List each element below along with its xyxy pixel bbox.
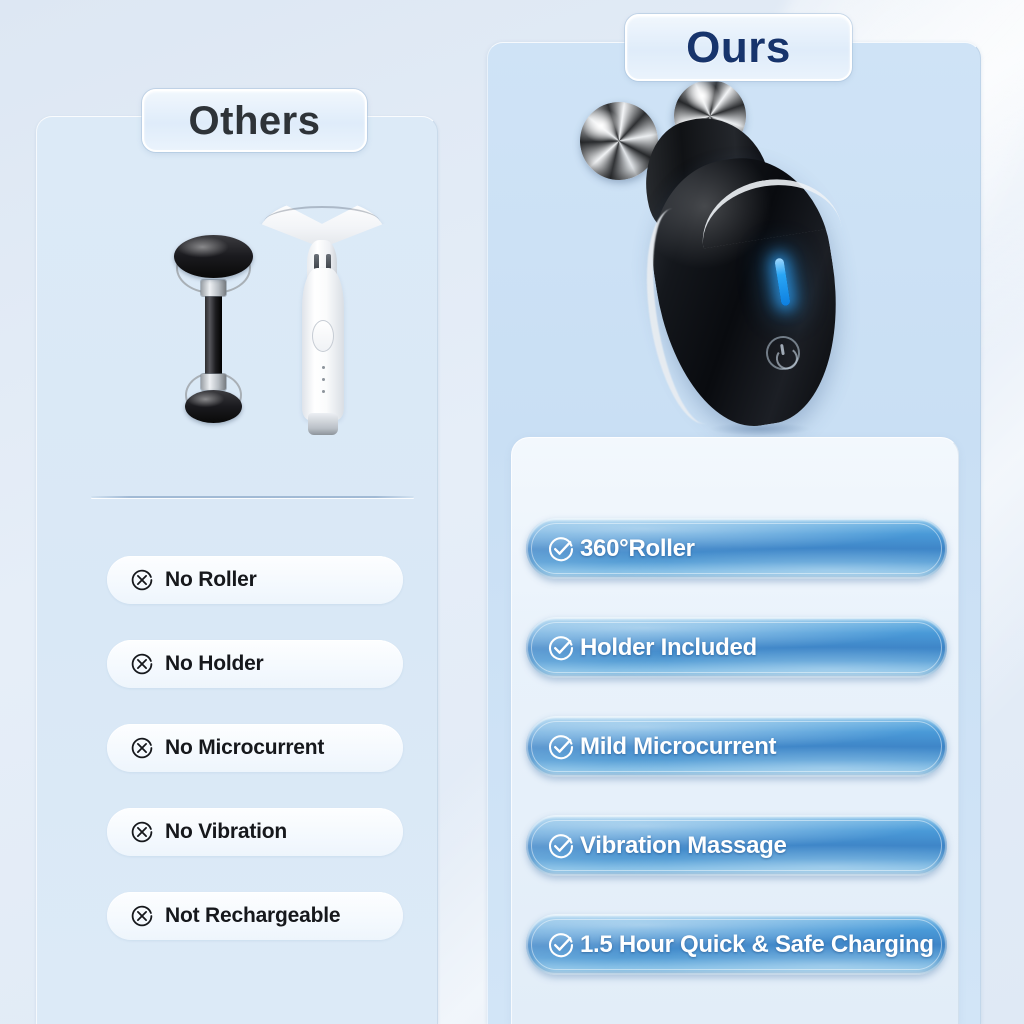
others-feature-label-4: Not Rechargeable [165, 904, 340, 928]
roller-head-small [185, 390, 242, 423]
massager-mode-indicators [313, 366, 333, 402]
ours-feature-label-2: Mild Microcurrent [580, 733, 776, 761]
ours-feature-item-4[interactable]: 1.5 Hour Quick & Safe Charging [526, 914, 947, 975]
others-header-badge: Others [142, 89, 367, 152]
others-header-label: Others [189, 101, 321, 141]
massager-base [308, 413, 338, 435]
ours-feature-item-1[interactable]: Holder Included [526, 617, 947, 678]
circle-x-icon [129, 567, 155, 593]
ours-feature-item-2[interactable]: Mild Microcurrent [526, 716, 947, 777]
roller-head-large [174, 235, 253, 278]
ours-product-images [540, 80, 940, 450]
circle-check-icon [546, 930, 576, 960]
others-feature-item-2[interactable]: No Microcurrent [107, 724, 403, 772]
circle-x-icon [129, 903, 155, 929]
others-feature-label-2: No Microcurrent [165, 736, 324, 760]
circle-x-icon [129, 735, 155, 761]
ours-header-label: Ours [686, 26, 791, 70]
others-product-images [130, 190, 410, 470]
ours-feature-label-4: 1.5 Hour Quick & Safe Charging [580, 931, 934, 959]
others-feature-item-3[interactable]: No Vibration [107, 808, 403, 856]
others-divider [91, 496, 414, 498]
ours-feature-label-1: Holder Included [580, 634, 757, 662]
circle-check-icon [546, 831, 576, 861]
others-feature-item-0[interactable]: No Roller [107, 556, 403, 604]
ours-feature-item-3[interactable]: Vibration Massage [526, 815, 947, 876]
ours-header-badge: Ours [625, 14, 852, 81]
roller-handle [205, 290, 222, 380]
others-feature-list: No Roller No Holder No Microcurrent [107, 556, 403, 940]
others-feature-label-3: No Vibration [165, 820, 287, 844]
massager-head-edge [264, 206, 380, 238]
others-feature-item-1[interactable]: No Holder [107, 640, 403, 688]
circle-x-icon [129, 819, 155, 845]
massager-power-button [312, 320, 334, 352]
others-feature-label-1: No Holder [165, 652, 264, 676]
black-roller-device-image [540, 80, 940, 450]
circle-check-icon [546, 534, 576, 564]
ours-feature-item-0[interactable]: 360°Roller [526, 518, 947, 579]
ours-feature-list: 360°Roller Holder Included Mild Microcur… [526, 518, 947, 975]
circle-check-icon [546, 732, 576, 762]
white-neck-massager-image [258, 198, 386, 450]
jade-roller-image [158, 212, 268, 452]
circle-check-icon [546, 633, 576, 663]
comparison-page: Others No Roller No Holder [0, 0, 1024, 1024]
roller-ferrule-bottom [201, 374, 226, 390]
ours-feature-label-0: 360°Roller [580, 535, 695, 563]
others-feature-label-0: No Roller [165, 568, 257, 592]
roller-ferrule-top [201, 280, 226, 296]
others-feature-item-4[interactable]: Not Rechargeable [107, 892, 403, 940]
circle-x-icon [129, 651, 155, 677]
ours-feature-label-3: Vibration Massage [580, 832, 787, 860]
